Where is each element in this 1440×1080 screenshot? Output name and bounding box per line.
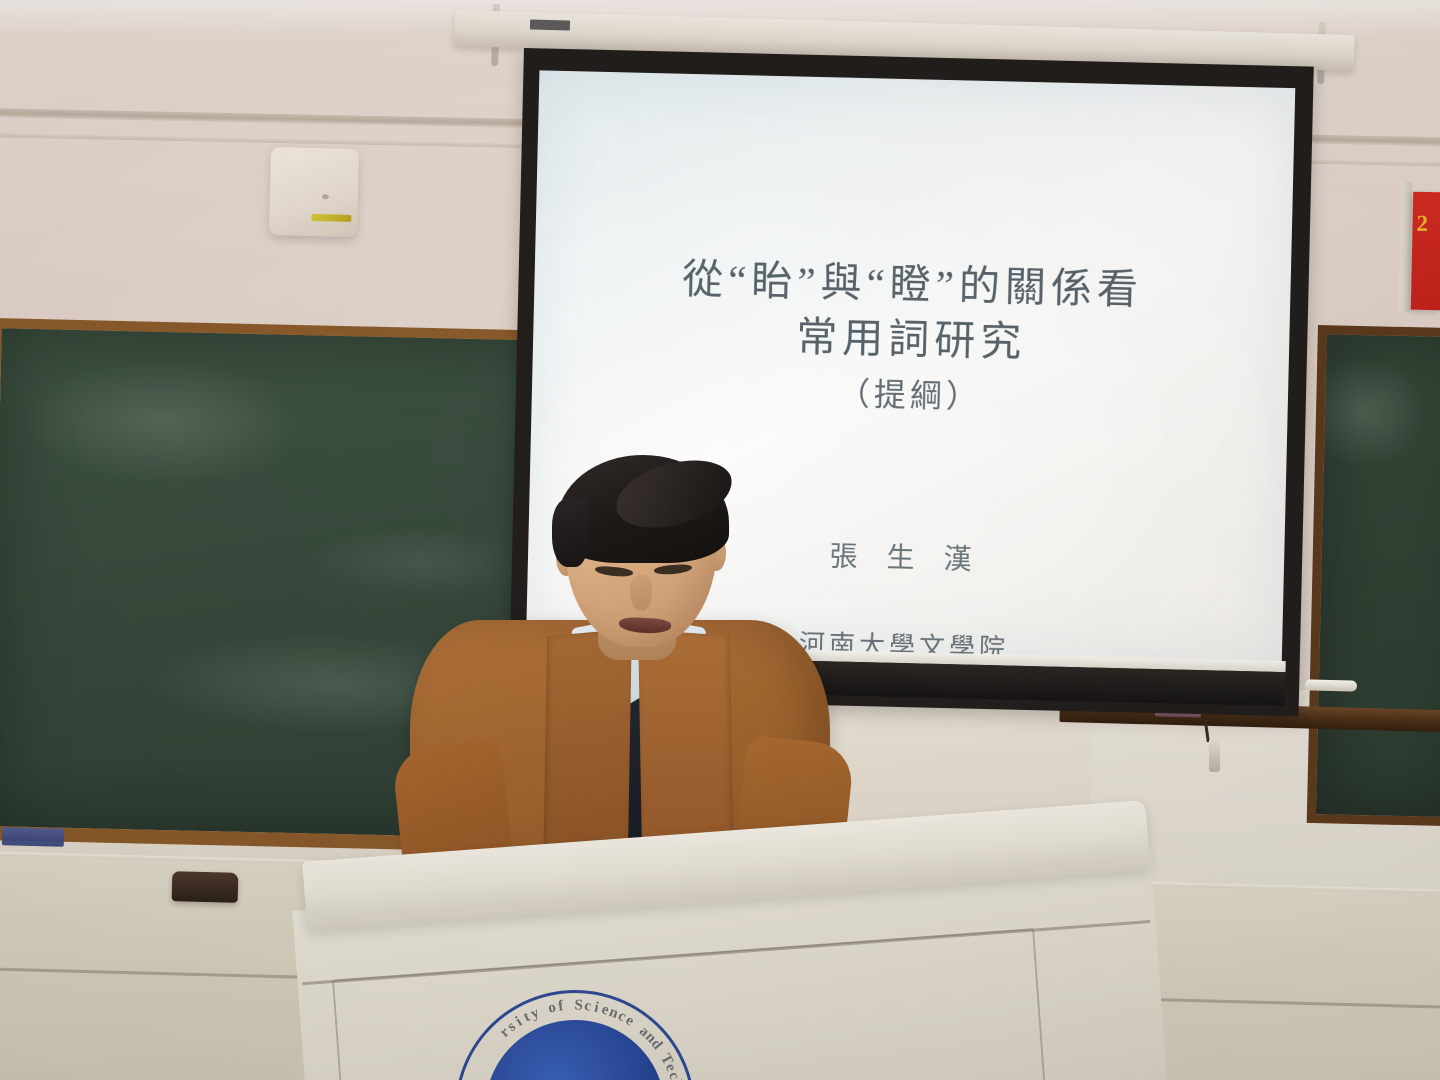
device-indicator-dot <box>322 194 329 199</box>
jacket-lapel-left <box>543 629 632 868</box>
wall-access-point <box>269 147 359 237</box>
emblem-arc-letter: o <box>547 999 558 1017</box>
slide-title-line-1: 從“眙”與“瞪”的關係看 <box>682 252 1144 317</box>
banner-text: 2 <box>1416 198 1429 250</box>
slide-subtitle: （提綱） <box>837 369 982 418</box>
emblem-arc-letter: i <box>593 999 601 1016</box>
device-label-strip <box>311 214 351 222</box>
speaker-nose <box>630 575 652 611</box>
chalkboard-right <box>1307 325 1440 827</box>
emblem-arc-letter: c <box>583 998 592 1016</box>
hanging-plug <box>1209 738 1220 772</box>
speaker-hair-sideburn <box>552 499 588 567</box>
screen-roller-cap <box>1305 679 1357 691</box>
blackboard-eraser <box>172 871 239 903</box>
red-banner: 2 <box>1411 192 1440 311</box>
lecture-photo-scene: 從“眙”與“瞪”的關係看 常用詞研究 （提綱） 張 生 漢 河南大學文學院 2 <box>0 0 1440 1080</box>
slide-title-line-2: 常用詞研究 <box>796 309 1027 369</box>
chalk-box <box>2 827 64 847</box>
emblem-arc-letter: S <box>574 997 583 1014</box>
emblem-arc-text: rsityofScienceandTech <box>447 982 704 1080</box>
housing-brand-label <box>530 19 570 30</box>
emblem-arc-letter: f <box>557 998 564 1016</box>
university-emblem: rsityofScienceandTech <box>447 982 704 1080</box>
